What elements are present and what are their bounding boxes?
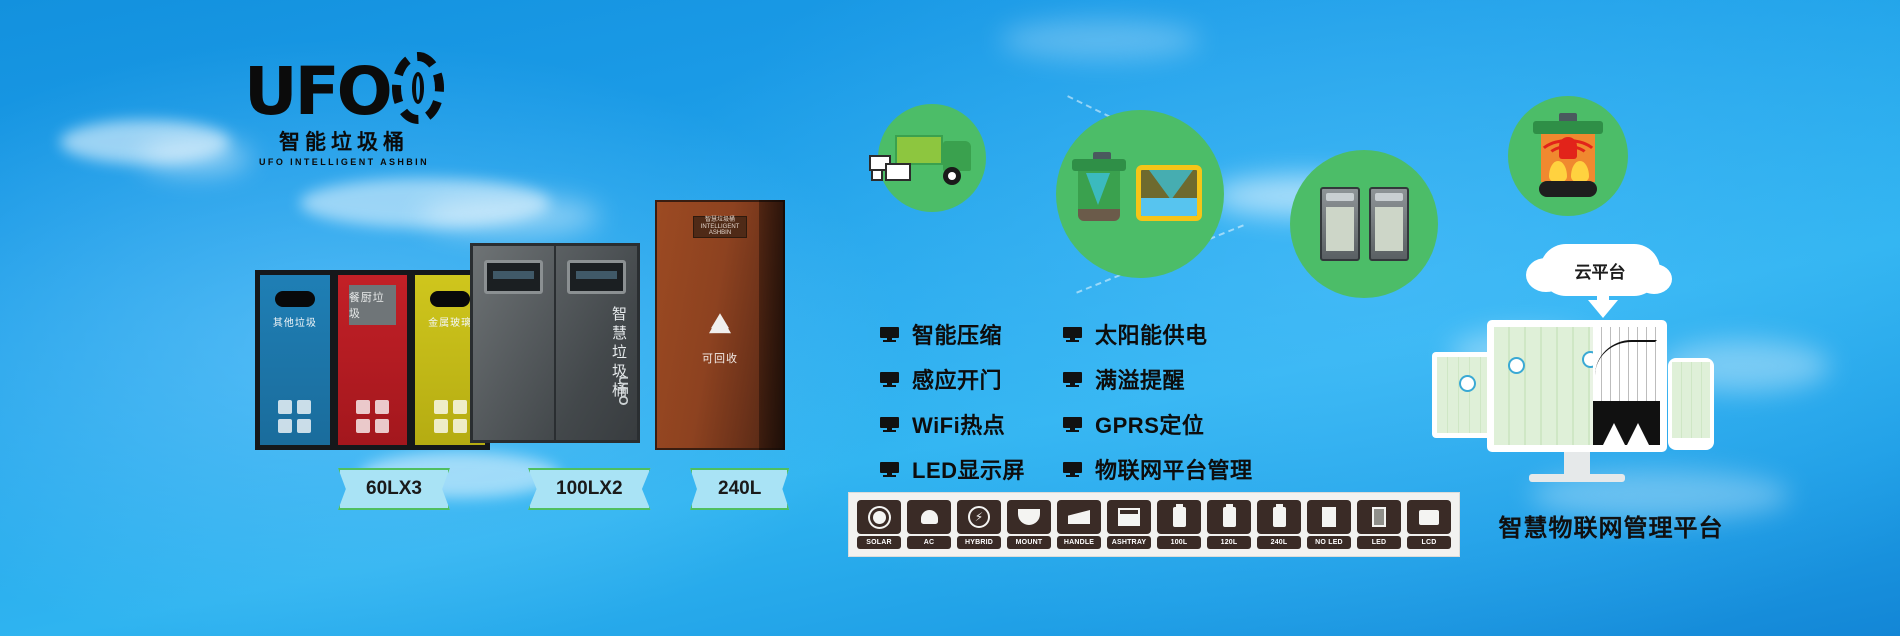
- monitor-icon: [1063, 462, 1082, 477]
- bin-240l-top-tag: 智慧垃圾桶 INTELLIGENT ASHBIN: [693, 216, 747, 238]
- option-label: NO LED: [1307, 536, 1351, 549]
- option-label: HANDLE: [1057, 536, 1101, 549]
- cloud-decor: [300, 178, 550, 228]
- bin-240l-side-shade: [759, 200, 785, 450]
- option-icon-strip: SOLAR AC ⚡ HYBRID MOUNT HANDLE ASHTRAY 1…: [848, 492, 1460, 557]
- lcd-icon: [1419, 510, 1439, 525]
- option-label: ASHTRAY: [1107, 536, 1151, 549]
- option-no-led[interactable]: NO LED: [1307, 500, 1351, 549]
- bin-sort-glyphs: [269, 400, 321, 433]
- bin-compartment-label: 金属玻璃: [428, 314, 472, 329]
- bin-240l: 智慧垃圾桶 INTELLIGENT ASHBIN 可回收: [655, 200, 785, 450]
- option-ac[interactable]: AC: [907, 500, 951, 549]
- feature-label: LED显示屏: [912, 453, 1025, 485]
- brand-logo: UFO 智能垃圾桶 UFO INTELLIGENT ASHBIN: [244, 52, 444, 164]
- option-label: LED: [1357, 536, 1401, 549]
- cloud-decor: [60, 120, 230, 164]
- ashtray-icon: [1118, 508, 1140, 526]
- bin-240l-body: 智慧垃圾桶 INTELLIGENT ASHBIN 可回收: [655, 200, 785, 450]
- monitor-stand: [1564, 452, 1590, 474]
- logo-wordmark: UFO: [244, 60, 390, 124]
- option-label: 100L: [1157, 536, 1201, 549]
- garbage-truck-icon: [893, 131, 971, 185]
- fire-alarm-bin-icon: [1529, 115, 1607, 197]
- logo-wordmark-row: UFO: [244, 52, 444, 124]
- feature-item: LED显示屏: [880, 453, 1025, 485]
- option-led[interactable]: LED: [1357, 500, 1401, 549]
- hybrid-bolt-icon: ⚡: [968, 506, 990, 528]
- capacity-ribbon-100l: 100LX2: [528, 468, 651, 510]
- monitor-base: [1529, 474, 1625, 482]
- bin-sort-glyphs: [424, 400, 476, 433]
- bin-display-screen: [567, 260, 625, 294]
- capacity-ribbon-60l: 60LX3: [338, 468, 450, 510]
- option-hybrid[interactable]: ⚡ HYBRID: [957, 500, 1001, 549]
- feature-item: 智能压缩: [880, 318, 1025, 350]
- bin-compartment: 餐厨垃圾: [333, 270, 411, 450]
- cloud-decor: [420, 196, 600, 236]
- dashboard-charts: [1593, 327, 1660, 445]
- bin-240l-icon: [1273, 507, 1286, 527]
- monitor-icon: [880, 372, 899, 387]
- monitor-icon: [880, 417, 899, 432]
- bin-compartment-label: 其他垃圾: [273, 314, 317, 329]
- monitor-icon: [1063, 372, 1082, 387]
- solar-panel-icon: [873, 511, 886, 524]
- option-label: HYBRID: [957, 536, 1001, 549]
- feature-label: 满溢提醒: [1095, 363, 1185, 395]
- bin-60l-triple: 其他垃圾 餐厨垃圾 金属玻璃: [255, 270, 490, 450]
- bin-100l-right: 智慧垃圾桶 UFO: [556, 246, 637, 440]
- ufo-ring-icon: [392, 52, 444, 124]
- option-label: 240L: [1257, 536, 1301, 549]
- feature-item: WiFi热点: [880, 408, 1025, 440]
- option-ashtray[interactable]: ASHTRAY: [1107, 500, 1151, 549]
- feature-item: 太阳能供电: [1063, 318, 1253, 350]
- feature-label: GPRS定位: [1095, 408, 1204, 440]
- option-label: LCD: [1407, 536, 1451, 549]
- option-handle[interactable]: HANDLE: [1057, 500, 1101, 549]
- feature-item: GPRS定位: [1063, 408, 1253, 440]
- feature-label: 感应开门: [912, 363, 1002, 395]
- feature-list: 智能压缩 感应开门 WiFi热点 LED显示屏 太阳能供电: [880, 318, 1310, 485]
- feature-label: 智能压缩: [912, 318, 1002, 350]
- option-240l[interactable]: 240L: [1257, 500, 1301, 549]
- no-led-icon: [1322, 507, 1336, 527]
- tablet-device: [1432, 352, 1494, 438]
- option-100l[interactable]: 100L: [1157, 500, 1201, 549]
- bin-100l-body: 智慧垃圾桶 UFO: [470, 243, 640, 443]
- option-label: SOLAR: [857, 536, 901, 549]
- platform-caption: 智慧物联网管理平台: [1446, 508, 1776, 543]
- circle-smart-bins: [1290, 150, 1438, 298]
- feature-item: 物联网平台管理: [1063, 453, 1253, 485]
- bin-120l-icon: [1223, 507, 1236, 527]
- option-label: MOUNT: [1007, 536, 1051, 549]
- dashboard-map: [1494, 327, 1590, 445]
- led-icon: [1372, 507, 1386, 527]
- feature-label: 太阳能供电: [1095, 318, 1208, 350]
- bin-sort-glyphs: [347, 400, 399, 433]
- feature-column-left: 智能压缩 感应开门 WiFi热点 LED显示屏: [880, 318, 1025, 485]
- option-solar[interactable]: SOLAR: [857, 500, 901, 549]
- smartphone-icon: [1672, 362, 1710, 438]
- option-label: AC: [907, 536, 951, 549]
- ac-plug-icon: [921, 510, 938, 524]
- bin-side-brand: UFO: [616, 376, 631, 406]
- circle-fill-sensor: [1056, 110, 1224, 278]
- recycle-icon: [703, 308, 737, 342]
- bin-100l-left: [473, 246, 556, 440]
- bin-compartment: 其他垃圾: [255, 270, 333, 450]
- bin-60l-frame: 其他垃圾 餐厨垃圾 金属玻璃: [255, 270, 490, 450]
- monitor-icon: [1063, 417, 1082, 432]
- monitor-icon: [880, 327, 899, 342]
- logo-english-tagline: UFO INTELLIGENT ASHBIN: [244, 157, 444, 167]
- circle-collection-truck: [878, 104, 986, 212]
- feature-column-right: 太阳能供电 满溢提醒 GPRS定位 物联网平台管理: [1063, 318, 1253, 485]
- feature-label: WiFi热点: [912, 408, 1005, 440]
- option-120l[interactable]: 120L: [1207, 500, 1251, 549]
- bin-100l-icon: [1173, 507, 1186, 527]
- cloud-platform-label: 云平台: [1575, 258, 1626, 283]
- desktop-monitor: [1487, 320, 1667, 482]
- bin-compartment-plate: 餐厨垃圾: [349, 285, 396, 325]
- monitor-device-icon: [1487, 320, 1667, 452]
- phone-device: [1668, 358, 1714, 450]
- product-banner: UFO 智能垃圾桶 UFO INTELLIGENT ASHBIN 其他垃圾 餐厨…: [0, 0, 1900, 636]
- cloud-decor: [140, 140, 250, 174]
- wall-mount-icon: [1018, 509, 1040, 525]
- circle-fire-alarm: [1508, 96, 1628, 216]
- logo-chinese-name: 智能垃圾桶: [244, 126, 444, 156]
- option-lcd[interactable]: LCD: [1407, 500, 1451, 549]
- bin-display-screen: [484, 260, 542, 294]
- tablet-icon: [1437, 357, 1489, 433]
- feature-item: 感应开门: [880, 363, 1025, 395]
- twin-smart-bins-icon: [1320, 187, 1409, 261]
- bin-level-sensor-icon: [1070, 149, 1210, 239]
- cloud-decor: [1000, 20, 1200, 60]
- handle-icon: [1068, 510, 1090, 524]
- monitor-icon: [1063, 327, 1082, 342]
- feature-item: 满溢提醒: [1063, 363, 1253, 395]
- option-label: 120L: [1207, 536, 1251, 549]
- bin-slot-icon: [275, 291, 315, 307]
- capacity-ribbon-240l: 240L: [690, 468, 789, 510]
- monitor-icon: [880, 462, 899, 477]
- bin-slot-icon: [430, 291, 470, 307]
- bin-100l-double: 智慧垃圾桶 UFO: [470, 243, 640, 443]
- arrow-down-icon: [1588, 300, 1618, 318]
- option-mount[interactable]: MOUNT: [1007, 500, 1051, 549]
- feature-label: 物联网平台管理: [1095, 453, 1253, 485]
